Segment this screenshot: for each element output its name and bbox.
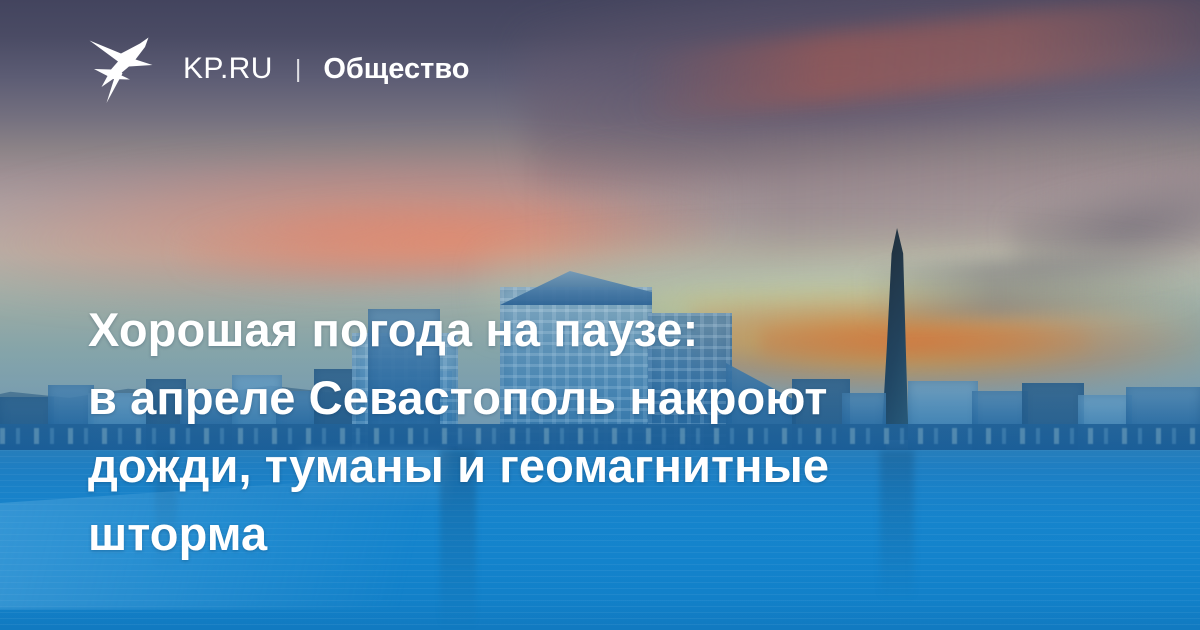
header-separator: | [295, 57, 302, 82]
headline: Хорошая погода на паузе: в апреле Севаст… [88, 296, 1028, 568]
rubric-label[interactable]: Общество [323, 55, 469, 84]
headline-line-3: дожди, туманы и геомагнитные [88, 432, 1028, 500]
headline-line-4: шторма [88, 500, 1028, 568]
brand-header: KP.RU | Общество [88, 34, 470, 104]
headline-line-2: в апреле Севастополь накроют [88, 364, 1028, 432]
kp-swallow-logo-icon[interactable] [88, 34, 154, 104]
brand-label[interactable]: KP.RU [183, 54, 273, 84]
headline-line-1: Хорошая погода на паузе: [88, 296, 1028, 364]
share-card: KP.RU | Общество Хорошая погода на паузе… [0, 0, 1200, 630]
